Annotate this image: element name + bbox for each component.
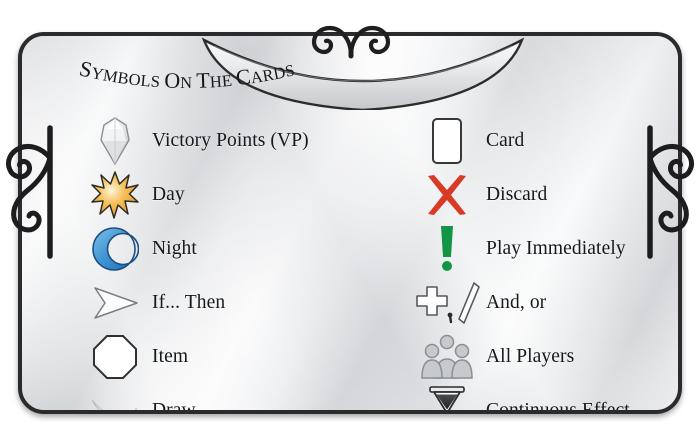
card-icon [412,116,482,166]
octagon-icon [84,332,146,382]
legend-label: Discard [482,184,547,206]
legend-row: Item [84,330,354,384]
legend-label: Night [146,238,197,260]
legend-label: Item [146,346,188,368]
legend-row: Night [84,222,354,276]
iron-scroll-left-icon [0,124,58,260]
chevron-icon [84,278,146,328]
legend-row: Victory Points (VP) [84,114,354,168]
legend-label: Draw [146,400,196,414]
legend-row: Day [84,168,354,222]
legend-label: Play Immediately [482,238,626,260]
moon-icon [84,224,146,274]
swoosh-icon [84,386,146,414]
plus-slash-icon [412,278,482,328]
legend-label: If... Then [146,292,225,314]
double-spiral-finial-icon [290,0,412,60]
legend-label: Day [146,184,185,206]
legend-row: All Players [412,330,682,384]
legend-label: All Players [482,346,574,368]
legend-row: Continuous Effect [412,384,682,414]
left-symbol-column: Victory Points (VP) [84,114,354,414]
plaque-background: SYMBOLS ON THE CARDS [18,32,682,414]
exclamation-icon [412,224,482,274]
hourglass-icon [412,386,482,414]
gem-icon [84,116,146,166]
people-icon [412,332,482,382]
legend-row: If... Then [84,276,354,330]
legend-row: And, or [412,276,682,330]
legend-row: Draw [84,384,354,414]
legend-label: Victory Points (VP) [146,130,309,152]
x-mark-icon [412,170,482,220]
sun-icon [84,170,146,220]
iron-scroll-right-icon [642,124,700,260]
symbols-legend-panel: SYMBOLS ON THE CARDS [0,0,700,436]
legend-label: And, or [482,292,546,314]
legend-label: Continuous Effect [482,400,630,414]
legend-label: Card [482,130,524,152]
